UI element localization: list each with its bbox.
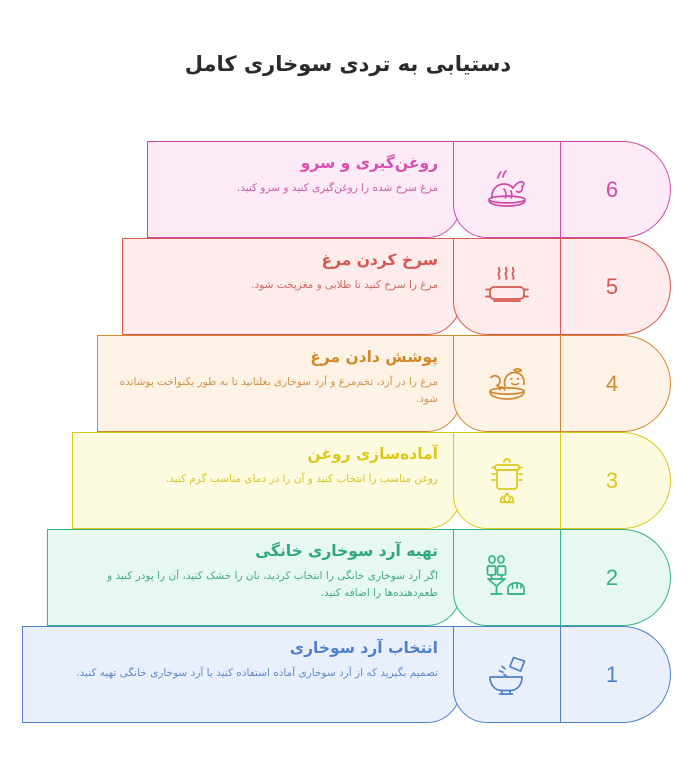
- step-3[interactable]: آماده‌سازی روغنروغن مناسب را انتخاب کنید…: [72, 432, 671, 529]
- step-text-panel-1: انتخاب آرد سوخاریتصمیم بگیرید که از آرد …: [22, 626, 461, 723]
- step-icon-panel-2: [453, 529, 561, 626]
- step-1[interactable]: انتخاب آرد سوخاریتصمیم بگیرید که از آرد …: [22, 626, 671, 723]
- step-title: تهیه آرد سوخاری خانگی: [62, 542, 438, 561]
- step-number: 3: [606, 468, 618, 494]
- step-icon-panel-1: [453, 626, 561, 723]
- step-title: پوشش دادن مرغ: [112, 348, 438, 367]
- step-title: آماده‌سازی روغن: [87, 445, 438, 464]
- step-number-badge-3: 3: [553, 432, 671, 529]
- roast-chicken-platter-icon: [481, 167, 533, 213]
- step-icon-panel-3: [453, 432, 561, 529]
- staircase-infographic: روغن‌گیری و سرومرغ سرخ شده را روغن‌گیری …: [0, 141, 696, 731]
- step-4[interactable]: پوشش دادن مرغمرغ را در آرد، تخم‌مرغ و آر…: [97, 335, 671, 432]
- step-number-badge-4: 4: [553, 335, 671, 432]
- step-text-panel-2: تهیه آرد سوخاری خانگیاگر آرد سوخاری خانگ…: [47, 529, 461, 626]
- step-description: اگر آرد سوخاری خانگی را انتخاب کردید، نا…: [62, 568, 438, 601]
- step-number: 6: [606, 177, 618, 203]
- step-description: تصمیم بگیرید که از آرد سوخاری آماده استف…: [37, 665, 438, 681]
- step-6[interactable]: روغن‌گیری و سرومرغ سرخ شده را روغن‌گیری …: [147, 141, 671, 238]
- step-2[interactable]: تهیه آرد سوخاری خانگیاگر آرد سوخاری خانگ…: [47, 529, 671, 626]
- step-number: 2: [606, 565, 618, 591]
- step-text-panel-3: آماده‌سازی روغنروغن مناسب را انتخاب کنید…: [72, 432, 461, 529]
- step-number-badge-6: 6: [553, 141, 671, 238]
- step-text-panel-4: پوشش دادن مرغمرغ را در آرد، تخم‌مرغ و آر…: [97, 335, 461, 432]
- page-title: دستیابی به تردی سوخاری کامل: [0, 52, 696, 76]
- step-description: مرغ را در آرد، تخم‌مرغ و آرد سوخاری بغلت…: [112, 374, 438, 407]
- pot-on-flame-icon: [482, 455, 532, 507]
- step-description: روغن مناسب را انتخاب کنید و آن را در دما…: [87, 471, 438, 487]
- step-number: 5: [606, 274, 618, 300]
- step-description: مرغ را سرخ کنید تا طلایی و مغزپخت شود.: [137, 277, 438, 293]
- step-number: 4: [606, 371, 618, 397]
- step-description: مرغ سرخ شده را روغن‌گیری کنید و سرو کنید…: [162, 180, 438, 196]
- blender-bread-icon: [479, 552, 535, 604]
- step-number-badge-1: 1: [553, 626, 671, 723]
- step-text-panel-6: روغن‌گیری و سرومرغ سرخ شده را روغن‌گیری …: [147, 141, 461, 238]
- step-icon-panel-4: [453, 335, 561, 432]
- step-icon-panel-6: [453, 141, 561, 238]
- step-icon-panel-5: [453, 238, 561, 335]
- step-number: 1: [606, 662, 618, 688]
- step-5[interactable]: سرخ کردن مرغمرغ را سرخ کنید تا طلایی و م…: [122, 238, 671, 335]
- step-title: روغن‌گیری و سرو: [162, 154, 438, 173]
- frying-pan-steam-icon: [481, 263, 533, 311]
- step-title: سرخ کردن مرغ: [137, 251, 438, 270]
- batter-bowl-icon: [480, 361, 534, 407]
- pour-bowl-icon: [480, 651, 534, 699]
- step-title: انتخاب آرد سوخاری: [37, 639, 438, 658]
- step-number-badge-2: 2: [553, 529, 671, 626]
- step-text-panel-5: سرخ کردن مرغمرغ را سرخ کنید تا طلایی و م…: [122, 238, 461, 335]
- step-number-badge-5: 5: [553, 238, 671, 335]
